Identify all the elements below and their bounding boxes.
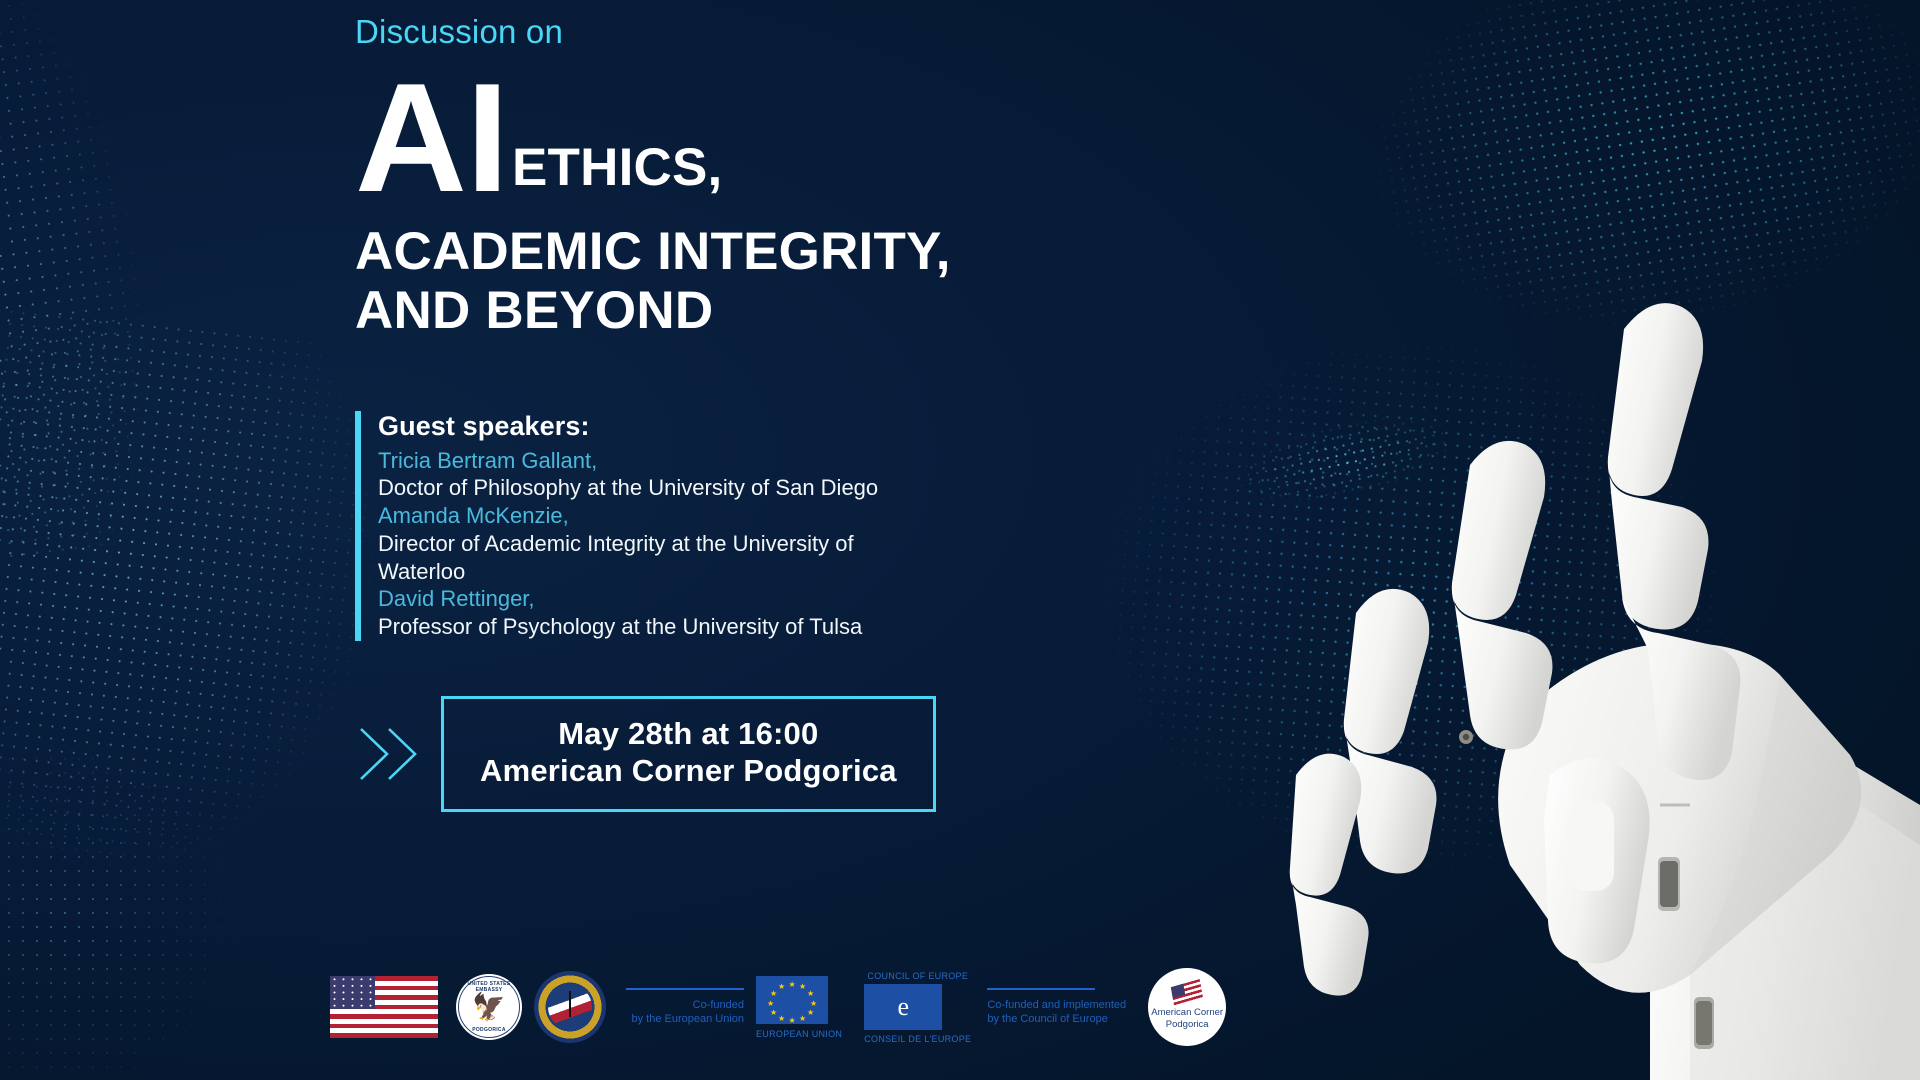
poster-canvas: Discussion on AI ETHICS, ACADEMIC INTEGR… [0, 0, 1920, 1080]
council-of-europe-logo: COUNCIL OF EUROPE e CONSEIL DE L'EUROPE [864, 971, 971, 1044]
particle-wave-decoration [1161, 0, 1920, 576]
speaker-entry: Amanda McKenzie, Director of Academic In… [378, 502, 938, 585]
european-union-logo: Co-funded by the European Union ★ ★ ★ ★ … [626, 976, 858, 1039]
divider [987, 988, 1095, 990]
coe-caption-line-2: by the Council of Europe [987, 1012, 1126, 1026]
ac-label-line-1: American Corner [1151, 1007, 1223, 1019]
speaker-entry: David Rettinger, Professor of Psychology… [378, 585, 938, 640]
sponsor-logo-strip: UNITED STATES EMBASSY 🦅 PODGORICA Co-fun… [330, 962, 1226, 1052]
seal-bottom-text: PODGORICA [456, 1027, 522, 1033]
us-embassy-seal-logo: UNITED STATES EMBASSY 🦅 PODGORICA [456, 974, 534, 1040]
poster-content: Discussion on AI ETHICS, ACADEMIC INTEGR… [355, 0, 1255, 812]
event-date-time: May 28th at 16:00 [480, 715, 897, 752]
speaker-name: David Rettinger, [378, 585, 938, 613]
speaker-name: Tricia Bertram Gallant, [378, 447, 938, 475]
ac-label-line-2: Podgorica [1166, 1019, 1209, 1031]
eu-flag-icon: ★ ★ ★ ★ ★ ★ ★ ★ ★ ★ ★ ★ [756, 976, 828, 1024]
coe-flag-icon: e [864, 984, 942, 1030]
speaker-role: Doctor of Philosophy at the University o… [378, 474, 938, 502]
us-flag-icon [1171, 979, 1203, 1007]
guest-speakers-heading: Guest speakers: [378, 411, 938, 442]
event-venue: American Corner Podgorica [480, 752, 897, 789]
event-info-box: May 28th at 16:00 American Corner Podgor… [441, 696, 936, 812]
title-line-3: AND BEYOND [355, 281, 1255, 340]
title-line-2: ACADEMIC INTEGRITY, [355, 222, 1255, 281]
inl-seal-logo [534, 971, 626, 1043]
page-title: AI ETHICS, ACADEMIC INTEGRITY, AND BEYON… [355, 72, 1255, 340]
coe-caption-line-1: Co-funded and implemented [987, 998, 1126, 1012]
divider [626, 988, 744, 990]
eu-flag-label: EUROPEAN UNION [756, 1029, 842, 1039]
speaker-name: Amanda McKenzie, [378, 502, 938, 530]
eu-caption-line-1: Co-funded [626, 998, 744, 1012]
title-ai-word: AI [355, 72, 508, 204]
coe-funding-caption: Co-funded and implemented by the Council… [987, 988, 1126, 1027]
guest-speakers-block: Guest speakers: Tricia Bertram Gallant, … [355, 411, 938, 641]
title-ethics-word: ETHICS, [512, 144, 722, 193]
robotic-hand-image [1220, 245, 1920, 1080]
us-flag-logo [330, 976, 456, 1038]
double-chevron-right-icon [355, 723, 425, 785]
coe-top-label: COUNCIL OF EUROPE [864, 971, 971, 981]
speaker-role: Director of Academic Integrity at the Un… [378, 530, 938, 585]
speaker-entry: Tricia Bertram Gallant, Doctor of Philos… [378, 447, 938, 502]
american-corner-podgorica-logo: American Corner Podgorica [1148, 968, 1226, 1046]
eu-caption-line-2: by the European Union [626, 1012, 744, 1026]
event-details-row: May 28th at 16:00 American Corner Podgor… [355, 696, 1255, 812]
speaker-role: Professor of Psychology at the Universit… [378, 613, 938, 641]
coe-bottom-label: CONSEIL DE L'EUROPE [864, 1034, 971, 1044]
seal-top-text: UNITED STATES EMBASSY [456, 981, 522, 993]
kicker-text: Discussion on [355, 14, 1255, 50]
